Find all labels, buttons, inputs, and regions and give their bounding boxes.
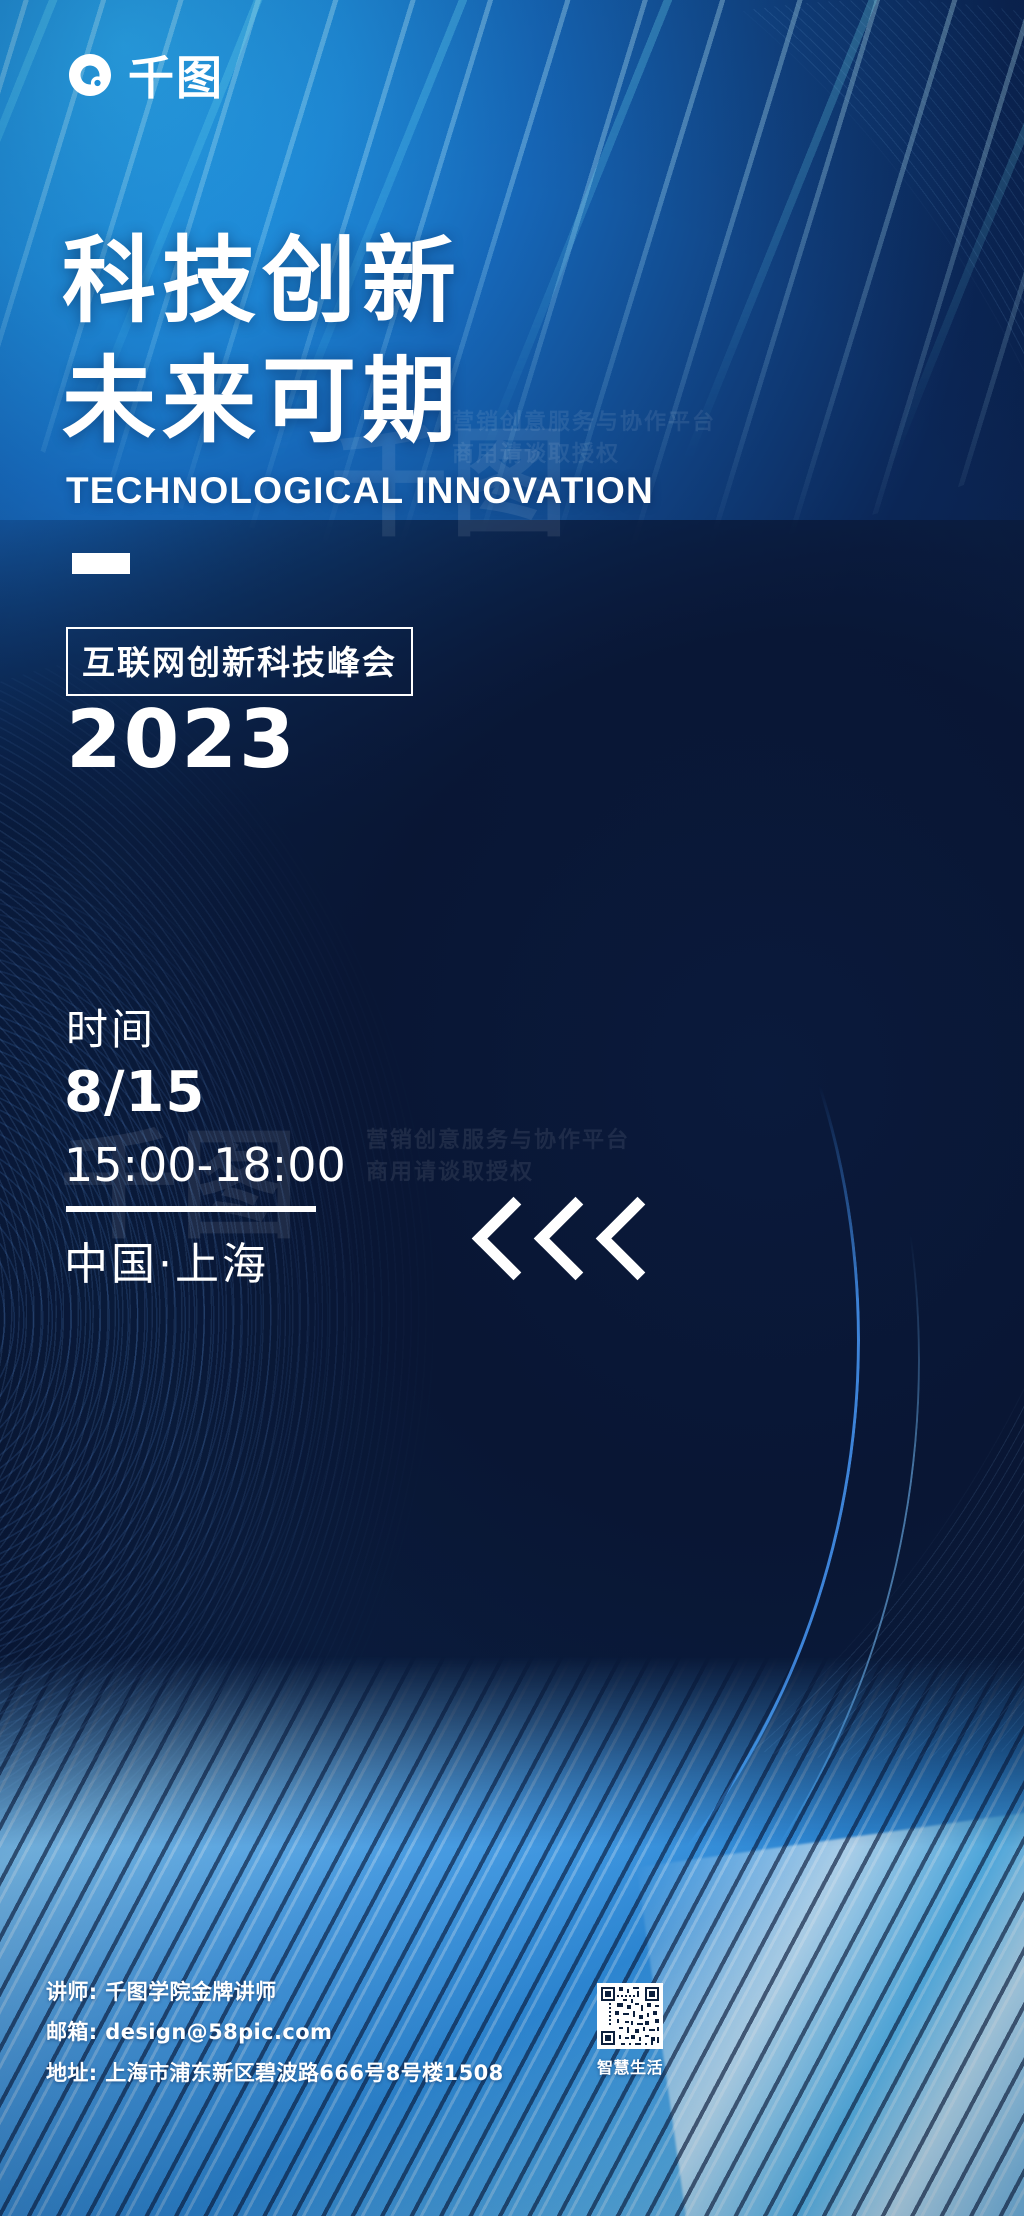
event-time-range: 15:00-18:00	[64, 1138, 346, 1192]
poster-content: 千图 科技创新 未来可期 TECHNOLOGICAL INNOVATION 互联…	[0, 0, 1024, 2216]
brand-name: 千图	[128, 42, 224, 108]
brand-logo: 千图	[66, 42, 224, 108]
footer-address: 地址: 上海市浦东新区碧波路666号8号楼1508	[46, 2053, 504, 2093]
page-title: 科技创新 未来可期	[62, 222, 462, 463]
divider-rule	[66, 1206, 316, 1212]
headline-line-1: 科技创新	[62, 222, 462, 342]
event-place: 中国·上海	[64, 1228, 269, 1292]
event-year: 2023	[66, 693, 297, 786]
footer-contact: 讲师: 千图学院金牌讲师 邮箱: design@58pic.com 地址: 上海…	[46, 1972, 504, 2093]
footer-speaker: 讲师: 千图学院金牌讲师	[46, 1972, 504, 2012]
chevron-left-icon	[540, 1205, 582, 1277]
summit-badge-label: 互联网创新科技峰会	[82, 643, 397, 682]
subheading: TECHNOLOGICAL INNOVATION	[66, 470, 654, 512]
accent-dash	[72, 553, 130, 574]
chevron-left-icon	[478, 1205, 520, 1277]
time-label: 时间	[66, 996, 156, 1057]
footer-email: 邮箱: design@58pic.com	[46, 2012, 504, 2052]
qr-code-label: 智慧生活	[593, 2054, 667, 2078]
qiantu-circle-logo-icon	[66, 51, 114, 99]
qr-code-block: 智慧生活	[593, 1983, 667, 2078]
event-date: 8/15	[64, 1060, 205, 1125]
summit-badge: 互联网创新科技峰会	[66, 627, 413, 696]
chevron-group	[478, 1205, 644, 1277]
qr-code-icon[interactable]	[597, 1983, 663, 2049]
poster-canvas: 千图 营销创意服务与协作平台 商用请谈取授权 千图 营销创意服务与协作平台 商用…	[0, 0, 1024, 2216]
chevron-left-icon	[602, 1205, 644, 1277]
headline-line-2: 未来可期	[62, 342, 462, 462]
